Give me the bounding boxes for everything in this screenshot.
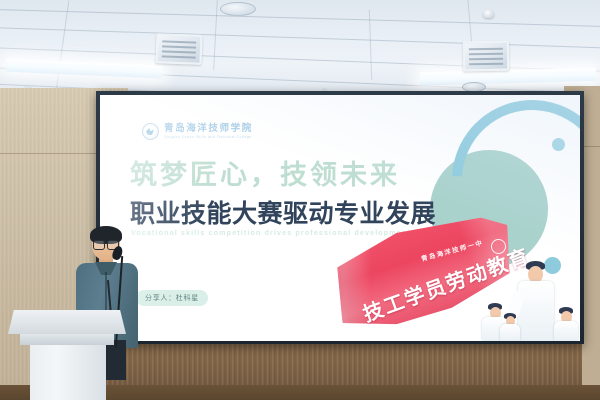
school-emblem-icon [142,123,159,140]
school-logo-text: 青岛海洋技师学院 Qingdao Ocean Skills and Techni… [164,124,253,139]
smoke-detector-icon [483,10,494,18]
school-logo: 青岛海洋技师学院 Qingdao Ocean Skills and Techni… [142,123,253,140]
ceiling-seam [0,26,600,50]
ceiling-speaker-icon [220,2,256,16]
student-figure [500,313,520,341]
air-vent-icon [155,33,202,65]
conference-room-screenshot: 青岛海洋技师学院 Qingdao Ocean Skills and Techni… [0,0,600,400]
presenter-badge: 分享人：杜科星 [136,290,208,306]
podium-neck [20,333,114,345]
student-figure [516,261,556,341]
deco-dot-blue [552,138,565,151]
ceiling-seam [0,8,600,29]
uniform-body [500,324,520,341]
podium [8,310,126,400]
school-name-cn: 青岛海洋技师学院 [164,124,253,134]
podium-body [30,344,106,400]
podium-top [8,310,126,334]
school-name-en: Qingdao Ocean Skills and Technical Colle… [164,136,253,139]
students-photo-group [482,255,580,341]
projection-screen[interactable]: 青岛海洋技师学院 Qingdao Ocean Skills and Techni… [100,95,580,341]
panel-light [6,59,162,79]
uniform-body [554,321,578,341]
slide-title-main: 筑梦匠心，技领未来 [130,153,400,192]
suspended-ceiling [0,0,600,92]
air-vent-icon [463,41,510,72]
uniform-body [518,281,554,341]
student-figure [554,307,578,341]
